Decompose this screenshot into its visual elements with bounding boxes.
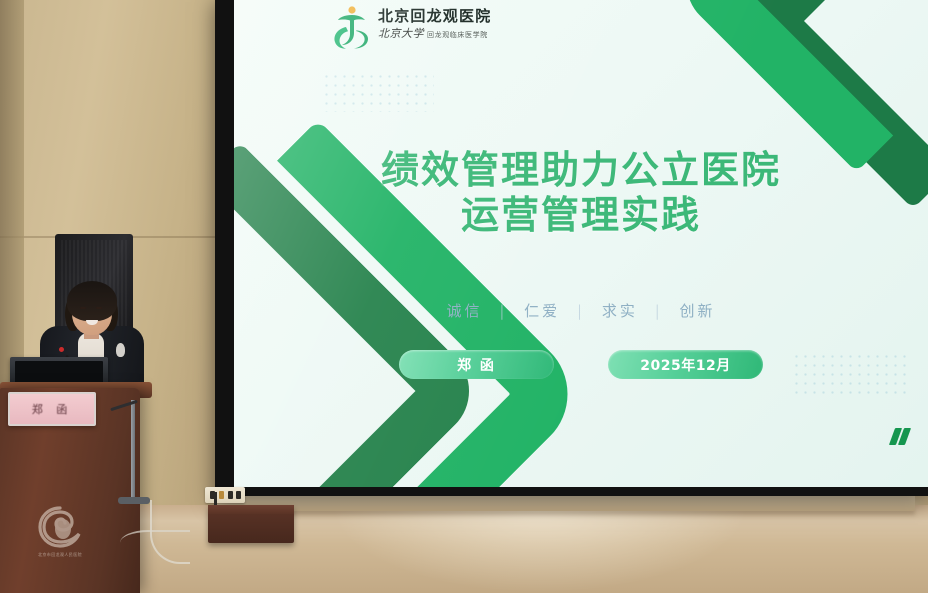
floor-equipment-box	[208, 505, 294, 543]
presenter-eye-left	[80, 307, 86, 309]
hospital-subtitle: 北京大学 回龙观临床医学院	[378, 25, 491, 41]
podium-emblem: 北京市回龙观人民医院	[36, 506, 84, 564]
title-line-1: 绩效管理助力公立医院	[381, 148, 781, 192]
hospital-name: 北京回龙观医院	[378, 9, 491, 24]
college-name: 回龙观临床医学院	[427, 30, 488, 40]
title-line-2: 运营管理实践	[234, 193, 928, 238]
value-item-1: 诚信	[447, 302, 483, 320]
date-pill: 2025年12月	[608, 350, 763, 379]
mic-stand-base	[118, 497, 150, 504]
presentation-slide[interactable]: 北京回龙观医院 北京大学 回龙观临床医学院 绩效管理助力公立医院 运营管理实践 …	[234, 0, 928, 487]
value-item-3: 求实	[602, 302, 638, 320]
presenter-pill: 郑 函	[399, 350, 554, 379]
presenter-eye-right	[96, 307, 102, 309]
conference-room-photo: 北京回龙观医院 北京大学 回龙观临床医学院 绩效管理助力公立医院 运营管理实践 …	[0, 0, 928, 593]
podium-emblem-caption: 北京市回龙观人民医院	[38, 552, 82, 558]
corner-slash-icon	[889, 428, 911, 445]
baseboard	[215, 495, 915, 511]
nameplate: 郑 函	[8, 392, 96, 426]
dot-grid-top-left	[322, 72, 434, 112]
presenter-hair	[67, 281, 117, 321]
hospital-logo-text: 北京回龙观医院 北京大学 回龙观临床医学院	[378, 4, 491, 41]
university-calligraphy: 北京大学	[378, 25, 424, 41]
value-separator-2: |	[568, 302, 594, 320]
floor-reflection	[330, 505, 750, 593]
mic-stand	[131, 400, 135, 500]
hospital-logo-mark	[331, 4, 371, 52]
power-cable-2	[120, 530, 190, 562]
slide-pills: 郑 函 2025年12月	[234, 350, 928, 379]
lapel-brooch	[116, 343, 125, 357]
slide-title: 绩效管理助力公立医院 运营管理实践	[234, 148, 928, 238]
value-item-2: 仁爱	[524, 302, 560, 320]
lapel-pin	[59, 347, 64, 352]
value-separator-3: |	[646, 302, 672, 320]
hospital-logo: 北京回龙观医院 北京大学 回龙观临床医学院	[331, 4, 491, 52]
value-item-4: 创新	[679, 302, 715, 320]
value-separator-1: |	[490, 302, 516, 320]
core-values: 诚信 | 仁爱 | 求实 | 创新	[234, 300, 928, 321]
nameplate-text: 郑 函	[32, 401, 73, 417]
